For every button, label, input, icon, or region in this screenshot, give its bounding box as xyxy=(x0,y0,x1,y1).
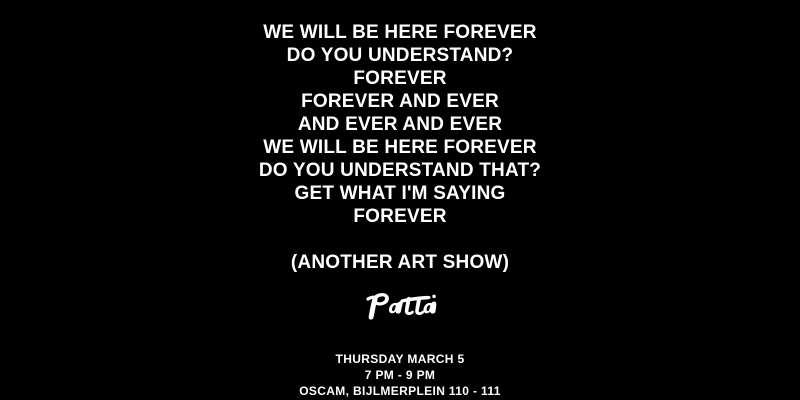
statement-line-9: FOREVER xyxy=(0,205,800,228)
event-date: THURSDAY MARCH 5 xyxy=(0,351,800,367)
statement-line-3: FOREVER xyxy=(0,67,800,90)
statement-line-7: DO YOU UNDERSTAND THAT? xyxy=(0,159,800,182)
event-details: THURSDAY MARCH 5 7 PM - 9 PM OSCAM, BIJL… xyxy=(0,351,800,399)
statement-line-1: WE WILL BE HERE FOREVER xyxy=(0,21,800,44)
statement-line-2: DO YOU UNDERSTAND? xyxy=(0,44,800,67)
statement-gap xyxy=(0,228,800,251)
event-time: 7 PM - 9 PM xyxy=(0,367,800,383)
statement-block: WE WILL BE HERE FOREVER DO YOU UNDERSTAN… xyxy=(0,21,800,274)
statement-line-8: GET WHAT I'M SAYING xyxy=(0,182,800,205)
logo-container xyxy=(0,287,800,325)
statement-line-6: WE WILL BE HERE FOREVER xyxy=(0,136,800,159)
event-venue: OSCAM, BIJLMERPLEIN 110 - 111 xyxy=(0,383,800,399)
subtitle: (ANOTHER ART SHOW) xyxy=(0,251,800,274)
statement-line-5: AND EVER AND EVER xyxy=(0,113,800,136)
statement-line-4: FOREVER AND EVER xyxy=(0,90,800,113)
patta-logo-icon xyxy=(363,287,437,325)
poster-canvas: WE WILL BE HERE FOREVER DO YOU UNDERSTAN… xyxy=(0,0,800,400)
